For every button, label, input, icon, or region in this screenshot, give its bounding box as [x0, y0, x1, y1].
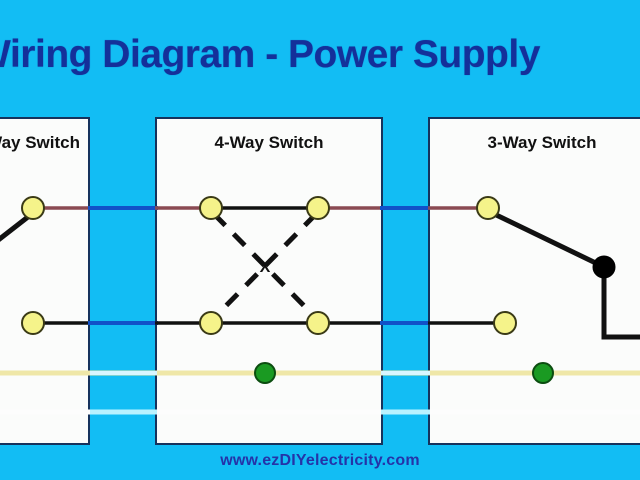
source-url[interactable]: www.ezDIYelectricity.com [0, 452, 640, 470]
left-switch-traveler-bottom-terminal[interactable] [22, 312, 44, 334]
right-switch-common-terminal[interactable] [593, 256, 615, 278]
crossover-marker: X [260, 259, 271, 276]
four-way-terminal-top-left[interactable] [200, 197, 222, 219]
right-switch-common-feed [604, 267, 640, 337]
wiring-diagram-canvas: Wiring Diagram - Power Supply 3-Way Swit… [0, 0, 640, 480]
four-way-ground-screw[interactable] [255, 363, 275, 383]
four-way-terminal-top-right[interactable] [307, 197, 329, 219]
right-switch-traveler-bottom-terminal[interactable] [494, 312, 516, 334]
left-switch-traveler-top-terminal[interactable] [22, 197, 44, 219]
wiring-layer: X [0, 0, 640, 480]
right-switch-blade [488, 211, 604, 267]
four-way-terminal-bottom-left[interactable] [200, 312, 222, 334]
right-switch-ground-screw[interactable] [533, 363, 553, 383]
right-switch-traveler-top-terminal[interactable] [477, 197, 499, 219]
four-way-terminal-bottom-right[interactable] [307, 312, 329, 334]
